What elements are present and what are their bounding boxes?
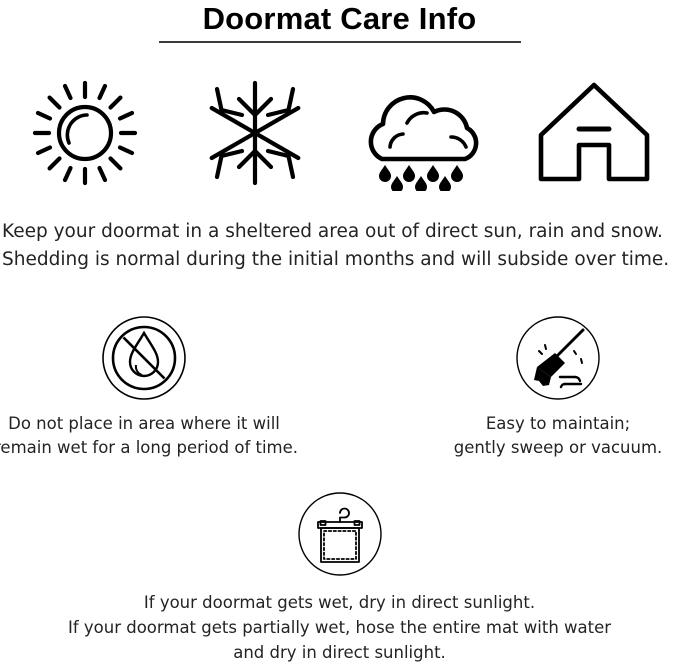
page-title: Doormat Care Info [0, 0, 679, 36]
badge-caption-line-1: Do not place in area where it will [0, 412, 294, 436]
bottom-caption-line-3: and dry in direct sunlight. [0, 640, 679, 665]
weather-icon-cell-house [519, 72, 669, 194]
bottom-caption-line-2: If your doormat gets partially wet, hose… [0, 615, 679, 640]
page-header: Doormat Care Info [0, 0, 679, 43]
house-icon [535, 79, 653, 187]
snowflake-icon [203, 77, 307, 189]
care-badge-sweep: Easy to maintain; gently sweep or vacuum… [408, 312, 679, 460]
badge-caption-no-water: Do not place in area where it will remai… [0, 412, 294, 460]
rain-cloud-icon [356, 75, 492, 191]
care-badge-row: Do not place in area where it will remai… [0, 312, 679, 462]
weather-icon-cell-snow [180, 72, 330, 194]
badge-caption-sweep: Easy to maintain; gently sweep or vacuum… [408, 412, 679, 460]
badge-caption-line-2: gently sweep or vacuum. [408, 436, 679, 460]
title-underline-rule [159, 41, 521, 43]
care-badge-hang-dry: If your doormat gets wet, dry in direct … [0, 484, 679, 665]
badge-icon-wrapper [0, 312, 294, 404]
badge-caption-line-1: Easy to maintain; [408, 412, 679, 436]
broom-icon [515, 315, 601, 401]
weather-icon-cell-rain [349, 72, 499, 194]
sun-icon [29, 77, 141, 189]
intro-paragraph: Keep your doormat in a sheltered area ou… [2, 218, 679, 274]
intro-line-1: Keep your doormat in a sheltered area ou… [2, 218, 679, 246]
bottom-caption: If your doormat gets wet, dry in direct … [0, 590, 679, 665]
weather-icon-cell-sun [10, 72, 160, 194]
bottom-caption-line-1: If your doormat gets wet, dry in direct … [0, 590, 679, 615]
badge-icon-wrapper [408, 312, 679, 404]
bottom-icon-wrapper [0, 484, 679, 584]
intro-line-2: Shedding is normal during the initial mo… [2, 246, 679, 274]
care-badge-no-water: Do not place in area where it will remai… [0, 312, 294, 460]
badge-caption-line-2: remain wet for a long period of time. [0, 436, 294, 460]
weather-icon-row [0, 72, 679, 194]
hang-to-dry-icon [296, 490, 384, 578]
no-water-icon [101, 315, 187, 401]
